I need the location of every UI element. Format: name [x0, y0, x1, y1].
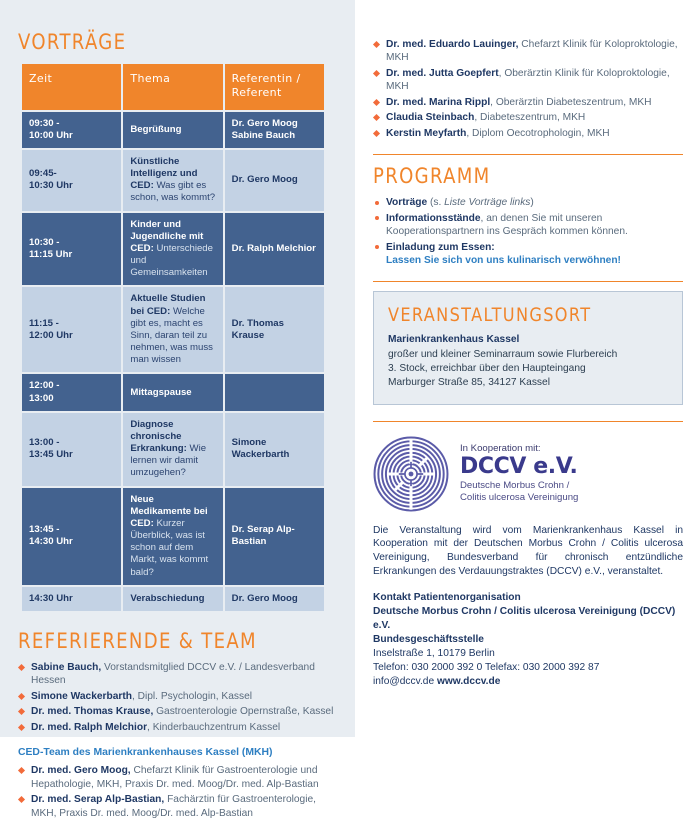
list-item: Vorträge (s. Liste Vorträge links) [373, 196, 683, 209]
bullet-icon [373, 99, 380, 106]
cell-topic: Kinder und Jugendliche mit CED: Untersch… [123, 213, 222, 286]
list-item: Kerstin Meyfarth, Diplom Oecotrophologin… [373, 127, 683, 140]
dccv-subtitle-line2: Colitis ulcerosa Vereinigung [460, 492, 578, 503]
list-item: Dr. med. Jutta Goepfert, Oberärztin Klin… [373, 67, 683, 94]
referierende-heading: REFERIERENDE & TEAM [18, 629, 323, 654]
table-row: 12:00 -13:00Mittagspause [22, 374, 324, 410]
cell-time: 10:30 -11:15 Uhr [22, 213, 121, 286]
dccv-subtitle: Deutsche Morbus Crohn / Colitis ulcerosa… [460, 480, 578, 504]
contact-address: Inselstraße 1, 10179 Berlin [373, 648, 495, 659]
venue-line2: großer und kleiner Seminarraum sowie Flu… [388, 349, 617, 360]
cell-topic: Neue Medikamente bei CED: Kurzer Überbli… [123, 488, 222, 585]
cell-time: 09:45-10:30 Uhr [22, 150, 121, 211]
contact-line2: Deutsche Morbus Crohn / Colitis ulcerosa… [373, 606, 675, 631]
cell-speaker: Simone Wackerbarth [225, 413, 324, 486]
cell-time: 12:00 -13:00 [22, 374, 121, 410]
col-header-referent-line2: Referent [232, 86, 282, 99]
ced-team-list: Dr. med. Gero Moog, Chefarzt Klinik für … [18, 764, 339, 820]
venue-line4: Marburger Straße 85, 34127 Kassel [388, 377, 550, 388]
coop-text: In Kooperation mit: DCCV e.V. Deutsche M… [460, 436, 578, 504]
flyer-page: VORTRÄGE Zeit Thema Referentin / Referen… [0, 0, 699, 737]
cell-speaker: Dr. Ralph Melchior [225, 213, 324, 286]
cell-topic: Künstliche Intelligenz und CED: Was gibt… [123, 150, 222, 211]
col-header-thema: Thema [123, 64, 222, 110]
cell-speaker [225, 374, 324, 410]
col-header-referent: Referentin / Referent [225, 64, 324, 110]
bullet-icon [18, 693, 25, 700]
cell-topic: Verabschiedung [123, 587, 222, 611]
dccv-subtitle-line1: Deutsche Morbus Crohn / [460, 480, 569, 491]
cell-time: 09:30 -10:00 Uhr [22, 112, 121, 148]
bullet-icon [375, 245, 379, 249]
list-item: Einladung zum Essen:Lassen Sie sich von … [373, 241, 683, 268]
venue-heading: VERANSTALTUNGSORT [388, 304, 654, 326]
contact-line3: Bundesgeschäftsstelle [373, 634, 484, 645]
bullet-icon [18, 724, 25, 731]
referierende-list: Sabine Bauch, Vorstandsmitglied DCCV e.V… [18, 661, 339, 734]
contact-email[interactable]: info@dccv.de [373, 676, 437, 687]
right-column: Dr. med. Eduardo Lauinger, Chefarzt Klin… [355, 0, 699, 737]
bullet-icon [18, 796, 25, 803]
cell-topic: Diagnose chronische Erkrankung: Wie lern… [123, 413, 222, 486]
ced-team-heading: CED-Team des Marienkrankenhauses Kassel … [18, 747, 339, 758]
col-header-referent-line1: Referentin / [232, 72, 301, 85]
list-item: Sabine Bauch, Vorstandsmitglied DCCV e.V… [18, 661, 339, 688]
bullet-icon [375, 201, 379, 205]
list-item: Dr. med. Eduardo Lauinger, Chefarzt Klin… [373, 38, 683, 65]
schedule-body: 09:30 -10:00 UhrBegrüßungDr. Gero MoogSa… [22, 112, 324, 612]
table-row: 14:30 UhrVerabschiedungDr. Gero Moog [22, 587, 324, 611]
table-row: 09:30 -10:00 UhrBegrüßungDr. Gero MoogSa… [22, 112, 324, 148]
schedule-table: Zeit Thema Referentin / Referent 09:30 -… [20, 62, 326, 613]
contact-block: Kontakt Patientenorganisation Deutsche M… [373, 591, 683, 688]
cell-speaker: Dr. Gero MoogSabine Bauch [225, 112, 324, 148]
left-column: VORTRÄGE Zeit Thema Referentin / Referen… [0, 0, 355, 737]
bullet-icon [373, 70, 380, 77]
cell-time: 11:15 -12:00 Uhr [22, 287, 121, 372]
cell-time: 13:45 -14:30 Uhr [22, 488, 121, 585]
cell-speaker: Dr. Gero Moog [225, 587, 324, 611]
cell-topic: Aktuelle Studien bei CED: Welche gibt es… [123, 287, 222, 372]
bullet-icon [18, 767, 25, 774]
programm-list: Vorträge (s. Liste Vorträge links)Inform… [373, 196, 683, 267]
vortraege-heading: VORTRÄGE [18, 30, 323, 55]
list-item: Claudia Steinbach, Diabeteszentrum, MKH [373, 111, 683, 124]
table-row: 09:45-10:30 UhrKünstliche Intelligenz un… [22, 150, 324, 211]
bullet-icon [18, 664, 25, 671]
cell-topic: Mittagspause [123, 374, 222, 410]
venue-address: Marienkrankenhaus Kassel großer und klei… [388, 333, 668, 389]
table-row: 13:00 -13:45 UhrDiagnose chronische Erkr… [22, 413, 324, 486]
bullet-icon [373, 114, 380, 121]
bullet-icon [373, 41, 380, 48]
col-header-zeit: Zeit [22, 64, 121, 110]
cell-speaker: Dr. Gero Moog [225, 150, 324, 211]
dccv-labyrinth-logo-icon [373, 436, 449, 512]
cooperation-block: In Kooperation mit: DCCV e.V. Deutsche M… [373, 436, 683, 512]
bullet-icon [375, 216, 379, 220]
cell-speaker: Dr. Thomas Krause [225, 287, 324, 372]
venue-box: VERANSTALTUNGSORT Marienkrankenhaus Kass… [373, 291, 683, 404]
divider-coop [373, 421, 683, 422]
table-row: 10:30 -11:15 UhrKinder und Jugendliche m… [22, 213, 324, 286]
bullet-icon [18, 708, 25, 715]
list-item: Simone Wackerbarth, Dipl. Psychologin, K… [18, 690, 339, 703]
contact-phone: Telefon: 030 2000 392 0 Telefax: 030 200… [373, 662, 599, 673]
table-row: 13:45 -14:30 UhrNeue Medikamente bei CED… [22, 488, 324, 585]
cell-time: 14:30 Uhr [22, 587, 121, 611]
disclaimer-text: Die Veranstaltung wird vom Marienkranken… [373, 524, 683, 579]
contact-website[interactable]: www.dccv.de [437, 676, 500, 687]
contact-line1: Kontakt Patientenorganisation [373, 592, 521, 603]
list-item: Dr. med. Thomas Krause, Gastroenterologi… [18, 705, 339, 718]
dccv-wordmark: DCCV e.V. [460, 456, 578, 478]
cell-speaker: Dr. Serap Alp-Bastian [225, 488, 324, 585]
list-item: Dr. med. Serap Alp-Bastian, Fachärztin f… [18, 793, 339, 820]
divider-venue [373, 281, 683, 282]
programm-heading: PROGRAMM [373, 164, 668, 189]
list-item: Informationsstände, an denen Sie mit uns… [373, 212, 683, 239]
cell-topic: Begrüßung [123, 112, 222, 148]
cell-time: 13:00 -13:45 Uhr [22, 413, 121, 486]
team-continued-list: Dr. med. Eduardo Lauinger, Chefarzt Klin… [373, 38, 683, 140]
venue-line3: 3. Stock, erreichbar über den Haupteinga… [388, 363, 586, 374]
venue-name: Marienkrankenhaus Kassel [388, 334, 519, 345]
divider-programm [373, 154, 683, 155]
list-item: Dr. med. Ralph Melchior, Kinderbauchzent… [18, 721, 339, 734]
bullet-icon [373, 130, 380, 137]
table-row: 11:15 -12:00 UhrAktuelle Studien bei CED… [22, 287, 324, 372]
list-item: Dr. med. Marina Rippl, Oberärztin Diabet… [373, 96, 683, 109]
coop-label: In Kooperation mit: [460, 443, 578, 454]
table-header-row: Zeit Thema Referentin / Referent [22, 64, 324, 110]
list-item: Dr. med. Gero Moog, Chefarzt Klinik für … [18, 764, 339, 791]
